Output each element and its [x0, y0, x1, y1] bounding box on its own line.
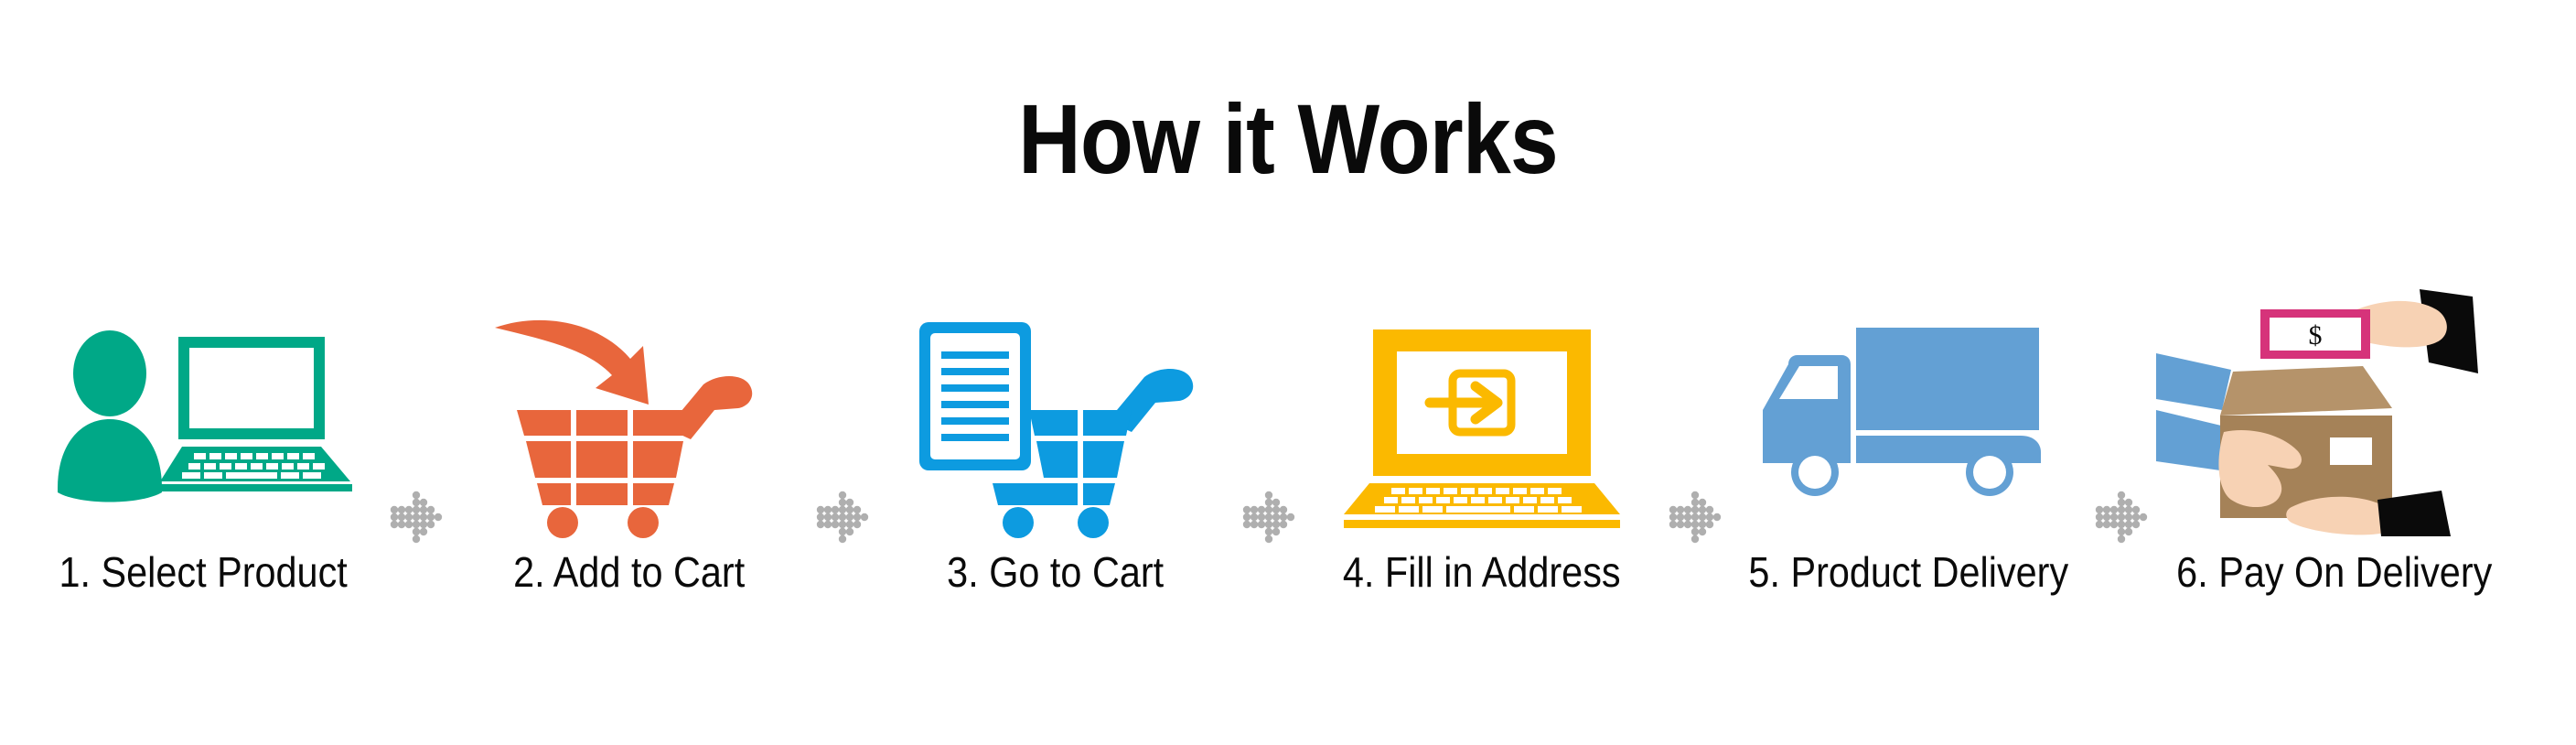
separator-3 [1239, 403, 1299, 632]
laptop-screen-glass [189, 348, 314, 428]
dotted-arrow-right-icon [1242, 491, 1295, 544]
page-title: How it Works [155, 90, 2421, 189]
dotted-arrow-right-icon [1669, 491, 1722, 544]
step-5-product-delivery[interactable]: 5. Product Delivery [1725, 302, 2091, 597]
laptop-login-icon [1331, 302, 1633, 531]
person-with-laptop-icon [52, 302, 354, 531]
step-6-pay-on-delivery[interactable]: $ 6. Pay On Delivery [2152, 302, 2517, 597]
step-2-add-to-cart[interactable]: 2. Add to Cart [446, 302, 812, 597]
step-1-select-product[interactable]: 1. Select Product [20, 302, 386, 597]
separator-1 [386, 403, 446, 632]
step-4-fill-in-address[interactable]: 4. Fill in Address [1299, 302, 1665, 597]
step-1-artwork [52, 302, 354, 531]
separator-4 [1665, 403, 1725, 632]
step-4-artwork [1331, 302, 1633, 531]
laptop-base-edge [1344, 520, 1620, 528]
dollar-symbol: $ [2309, 320, 2323, 351]
box-shipping-label [2330, 437, 2372, 465]
step-2-label: 2. Add to Cart [513, 547, 745, 597]
separator-2 [812, 403, 873, 632]
step-3-artwork [905, 302, 1207, 531]
step-5-artwork [1757, 302, 2059, 531]
step-4-label: 4. Fill in Address [1343, 547, 1621, 597]
step-3-go-to-cart[interactable]: 3. Go to Cart [873, 302, 1239, 597]
step-6-artwork: $ [2184, 302, 2485, 531]
dotted-arrow-right-icon [816, 491, 869, 544]
separator-5 [2091, 403, 2152, 632]
sleeve-left-upper [2156, 353, 2231, 410]
hands-box-money-icon: $ [2184, 302, 2485, 531]
step-5-label: 5. Product Delivery [1748, 547, 2068, 597]
step-2-artwork [478, 302, 780, 531]
cart-with-arrow-icon [478, 302, 780, 531]
step-6-label: 6. Pay On Delivery [2176, 547, 2492, 597]
step-1-label: 1. Select Product [59, 547, 347, 597]
cart-with-document-icon [905, 302, 1207, 531]
delivery-truck-icon [1757, 302, 2059, 531]
steps-row: 1. Select Product [0, 302, 2576, 632]
step-3-label: 3. Go to Cart [947, 547, 1164, 597]
dotted-arrow-right-icon [390, 491, 443, 544]
dotted-arrow-right-icon [2095, 491, 2148, 544]
box-lid [2220, 366, 2392, 416]
